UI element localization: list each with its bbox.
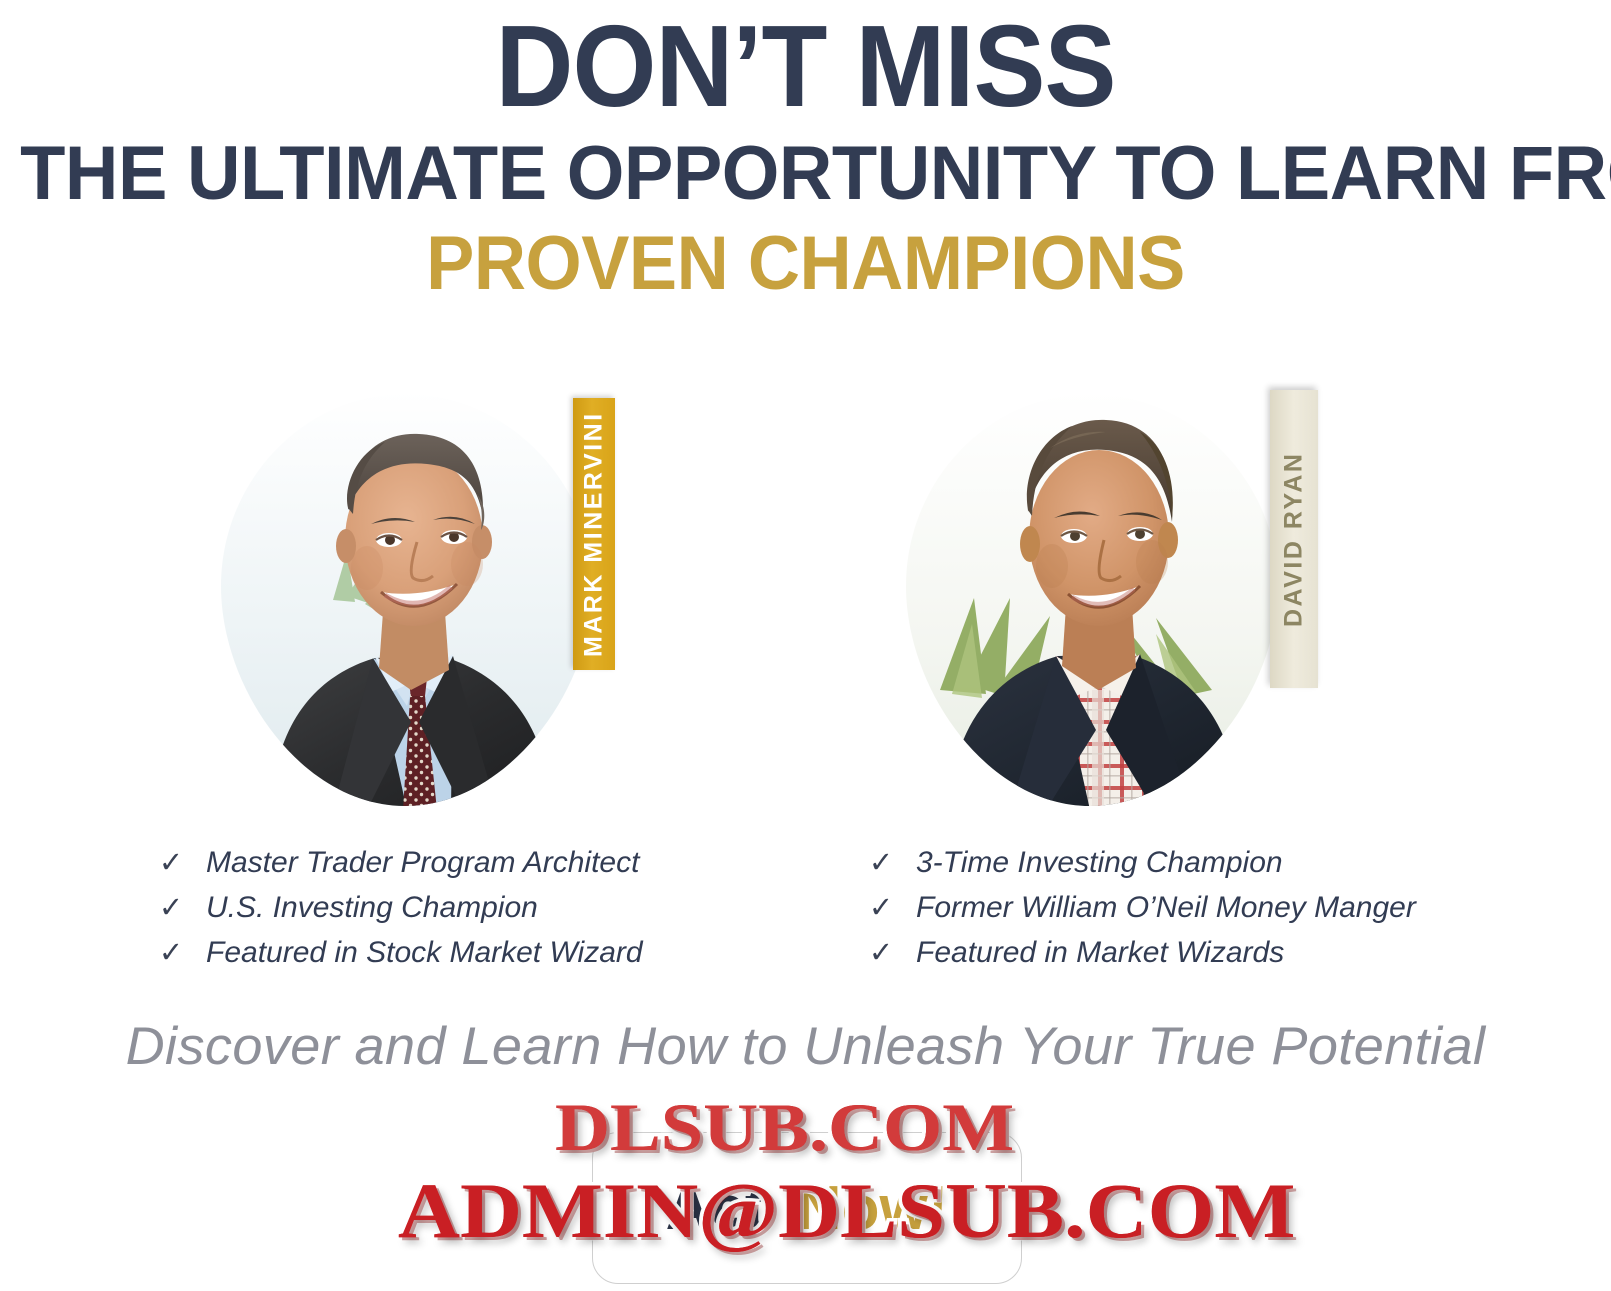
speaker-card-mark-minervini: MARK MINERVINI [195, 380, 625, 820]
list-item-label: U.S. Investing Champion [206, 885, 538, 930]
list-item: ✓ Featured in Market Wizards [868, 930, 1416, 975]
list-item: ✓ 3-Time Investing Champion [868, 840, 1416, 885]
credentials-list-david-ryan: ✓ 3-Time Investing Champion ✓ Former Wil… [868, 840, 1416, 975]
headline-line-1: DON’T MISS [56, 0, 1554, 124]
list-item: ✓ Former William O’Neil Money Manger [868, 885, 1416, 930]
cta-label-accent: Now! [797, 1174, 949, 1243]
speaker-name-banner-david-ryan: DAVID RYAN [1270, 390, 1318, 688]
credentials-lists: ✓ Master Trader Program Architect ✓ U.S.… [0, 840, 1611, 980]
check-icon: ✓ [868, 886, 894, 931]
headline-line-3: PROVEN CHAMPIONS [40, 226, 1570, 302]
check-icon: ✓ [158, 886, 184, 931]
list-item: ✓ Master Trader Program Architect [158, 840, 643, 885]
list-item-label: Featured in Market Wizards [916, 930, 1284, 975]
list-item-label: 3-Time Investing Champion [916, 840, 1283, 885]
list-item-label: Master Trader Program Architect [206, 840, 639, 885]
list-item: ✓ Featured in Stock Market Wizard [158, 930, 643, 975]
check-icon: ✓ [158, 931, 184, 976]
portrait-photo-david [900, 390, 1280, 810]
list-item-label: Featured in Stock Market Wizard [206, 930, 643, 975]
list-item: ✓ U.S. Investing Champion [158, 885, 643, 930]
headline-block: DON’T MISS THE ULTIMATE OPPORTUNITY TO L… [0, 0, 1611, 302]
speaker-card-david-ryan: DAVID RYAN [880, 380, 1310, 820]
cta-label-primary: Act [666, 1174, 766, 1243]
check-icon: ✓ [158, 841, 184, 886]
portrait-wrap-mark: MARK MINERVINI [195, 380, 625, 820]
speaker-name-banner-mark-minervini: MARK MINERVINI [573, 398, 615, 670]
speakers-row: MARK MINERVINI [0, 380, 1611, 820]
act-now-button[interactable]: Act Now! [592, 1132, 1022, 1284]
headline-line-2: THE ULTIMATE OPPORTUNITY TO LEARN FROM T… [20, 136, 1591, 212]
check-icon: ✓ [868, 841, 894, 886]
check-icon: ✓ [868, 931, 894, 976]
list-item-label: Former William O’Neil Money Manger [916, 885, 1416, 930]
promo-page: DON’T MISS THE ULTIMATE OPPORTUNITY TO L… [0, 0, 1611, 1291]
portrait-wrap-david: DAVID RYAN [880, 380, 1310, 820]
tagline: Discover and Learn How to Unleash Your T… [0, 1016, 1611, 1077]
credentials-list-mark-minervini: ✓ Master Trader Program Architect ✓ U.S.… [158, 840, 643, 975]
portrait-photo-mark [215, 390, 595, 810]
